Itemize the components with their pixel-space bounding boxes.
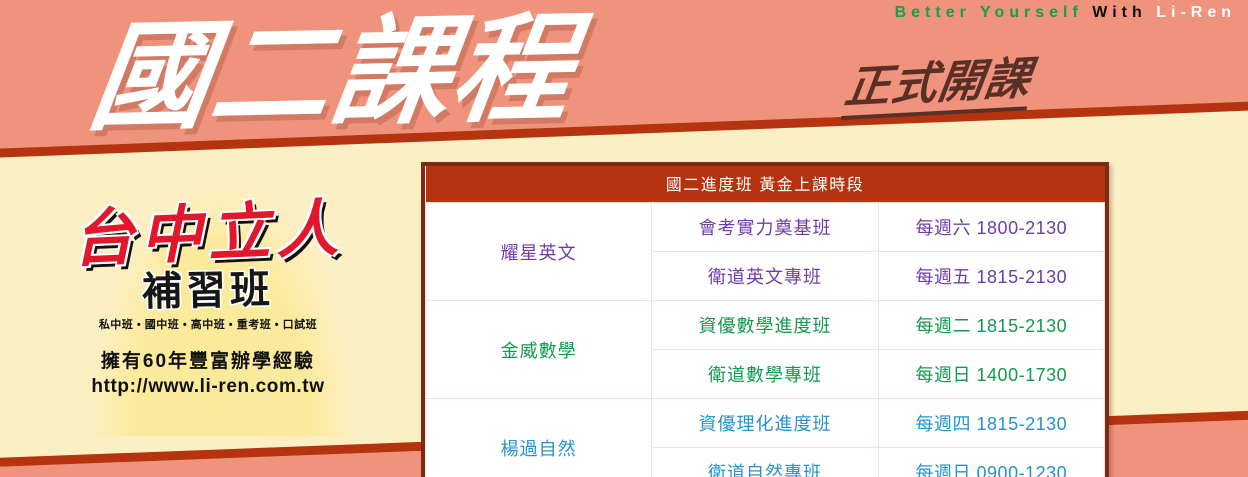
- tagline-part-better-yourself: Better Yourself: [895, 4, 1083, 21]
- time-cell: 每週四 1815-2130: [878, 399, 1104, 448]
- schedule-body: 耀星英文 會考實力奠基班 每週六 1800-2130 衛道英文專班 每週五 18…: [426, 203, 1105, 477]
- course-cell: 資優數學進度班: [652, 301, 878, 350]
- logo-experience-text: 擁有60年豐富辦學經驗: [28, 349, 388, 375]
- page-subtitle: 正式開課: [841, 52, 1035, 120]
- schedule-table: 國二進度班 黃金上課時段 耀星英文 會考實力奠基班 每週六 1800-2130 …: [425, 166, 1105, 477]
- tagline-part-li-ren: Li-Ren: [1156, 4, 1236, 21]
- time-cell: 每週六 1800-2130: [878, 203, 1104, 252]
- logo-website-url[interactable]: http://www.li-ren.com.tw: [28, 375, 388, 399]
- course-cell: 衛道英文專班: [652, 252, 878, 301]
- subject-cell-math: 金威數學: [426, 301, 652, 399]
- brand-logo: 台中立人 補習班 私中班 • 國中班 • 高中班 • 重考班 • 口試班 擁有6…: [28, 196, 388, 399]
- time-cell: 每週日 0900-1230: [878, 448, 1104, 477]
- logo-class-list: 私中班 • 國中班 • 高中班 • 重考班 • 口試班: [28, 317, 388, 333]
- table-row: 金威數學 資優數學進度班 每週二 1815-2130: [426, 301, 1105, 350]
- time-cell: 每週二 1815-2130: [878, 301, 1104, 350]
- table-row: 耀星英文 會考實力奠基班 每週六 1800-2130: [426, 203, 1105, 252]
- promo-banner: Better Yourself With Li-Ren 國二課程 正式開課 台中…: [0, 0, 1248, 477]
- course-cell: 衛道自然專班: [652, 448, 878, 477]
- time-cell: 每週五 1815-2130: [878, 252, 1104, 301]
- time-cell: 每週日 1400-1730: [878, 350, 1104, 399]
- page-title: 國二課程: [82, 0, 583, 148]
- subject-cell-english: 耀星英文: [426, 203, 652, 301]
- schedule-header-row: 國二進度班 黃金上課時段: [426, 166, 1105, 203]
- course-cell: 會考實力奠基班: [652, 203, 878, 252]
- tagline-part-with: With: [1092, 4, 1147, 21]
- course-cell: 資優理化進度班: [652, 399, 878, 448]
- schedule-table-container: 國二進度班 黃金上課時段 耀星英文 會考實力奠基班 每週六 1800-2130 …: [421, 162, 1109, 477]
- logo-subname: 補習班: [28, 264, 389, 318]
- course-cell: 衛道數學專班: [652, 350, 878, 399]
- brand-tagline: Better Yourself With Li-Ren: [895, 2, 1236, 24]
- subject-cell-science: 楊過自然: [426, 399, 652, 477]
- schedule-header-title: 國二進度班 黃金上課時段: [426, 166, 1105, 203]
- table-row: 楊過自然 資優理化進度班 每週四 1815-2130: [426, 399, 1105, 448]
